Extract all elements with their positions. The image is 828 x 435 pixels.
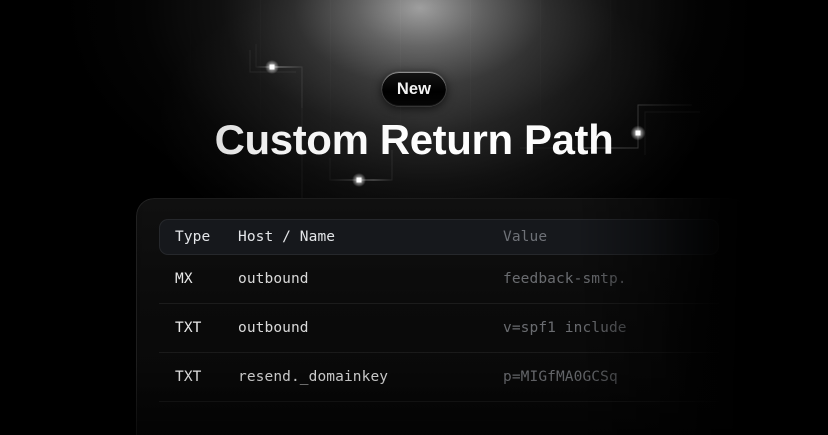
cell-value: p=MIGfMA0GCSq: [503, 369, 719, 385]
table-row[interactable]: TXT outbound v=spf1 include: [159, 304, 719, 353]
cell-host: outbound: [238, 320, 503, 336]
new-badge-label: New: [397, 81, 431, 98]
new-badge: New: [382, 72, 446, 106]
table-row[interactable]: TXT resend._domainkey p=MIGfMA0GCSq: [159, 353, 719, 402]
cell-host: outbound: [238, 271, 503, 287]
column-header-value: Value: [503, 229, 719, 245]
table-row[interactable]: MX outbound feedback-smtp.: [159, 255, 719, 304]
hero-stage: New Custom Return Path Type Host / Name …: [0, 0, 828, 435]
cell-type: TXT: [159, 320, 238, 336]
cell-value: v=spf1 include: [503, 320, 719, 336]
background-grid-lines: [150, 0, 710, 215]
column-header-type: Type: [159, 229, 238, 245]
column-header-host: Host / Name: [238, 229, 503, 245]
cell-type: MX: [159, 271, 238, 287]
cell-type: TXT: [159, 369, 238, 385]
page-title: Custom Return Path: [0, 116, 828, 163]
cell-value: feedback-smtp.: [503, 271, 719, 287]
table-header-row: Type Host / Name Value: [159, 219, 719, 255]
dns-records-card: Type Host / Name Value MX outbound feedb…: [136, 198, 748, 435]
cell-host: resend._domainkey: [238, 369, 503, 385]
dns-records-table: Type Host / Name Value MX outbound feedb…: [159, 219, 747, 402]
